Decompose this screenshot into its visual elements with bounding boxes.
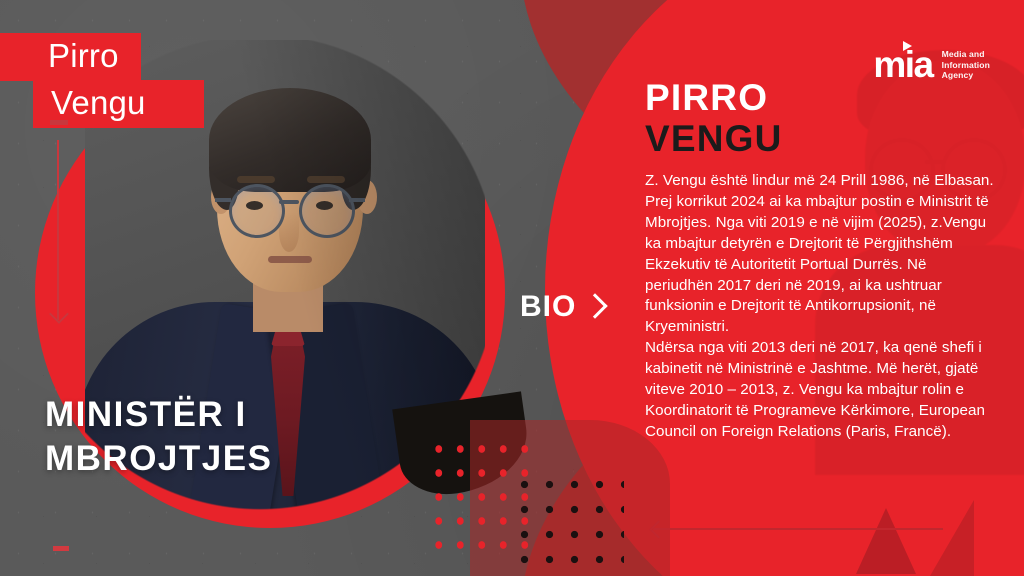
page-title-line1: MINISTËR I bbox=[45, 393, 272, 437]
panel-name-last: VENGU bbox=[645, 118, 995, 160]
page-title-line2: MBROJTJES bbox=[45, 437, 272, 481]
triangle-decoration-1 bbox=[856, 508, 916, 574]
slide-canvas: Pirro Vengu MINISTËR I MBROJTJES BIO PIR… bbox=[0, 0, 1024, 576]
bio-button-label: BIO bbox=[520, 290, 576, 324]
bio-button[interactable]: BIO bbox=[520, 290, 604, 324]
down-arrow-icon bbox=[57, 140, 59, 320]
mia-tagline-line1: Media and bbox=[942, 49, 990, 59]
mia-logo-tagline: Media and Information Agency bbox=[942, 49, 990, 80]
dash-mark-bottom bbox=[53, 546, 69, 551]
mia-logo: mia Media and Information Agency bbox=[873, 48, 990, 82]
mia-logo-wordmark: mia bbox=[873, 48, 932, 82]
play-triangle-icon bbox=[903, 41, 912, 51]
dot-grid-dark-icon bbox=[512, 472, 624, 576]
mia-tagline-line3: Agency bbox=[942, 70, 990, 80]
dash-mark-top bbox=[50, 120, 68, 125]
bio-panel-content: PIRRO VENGU Z. Vengu është lindur më 24 … bbox=[645, 78, 995, 443]
panel-name-first: PIRRO bbox=[645, 78, 995, 118]
panel-bio-text: Z. Vengu është lindur më 24 Prill 1986, … bbox=[645, 171, 995, 443]
name-bar-first: Pirro bbox=[0, 33, 141, 81]
triangle-decoration-2 bbox=[930, 500, 974, 576]
chevron-right-icon bbox=[583, 293, 608, 318]
left-arrow-icon bbox=[653, 528, 943, 530]
page-title: MINISTËR I MBROJTJES bbox=[45, 393, 272, 481]
mia-tagline-line2: Information bbox=[942, 60, 990, 70]
